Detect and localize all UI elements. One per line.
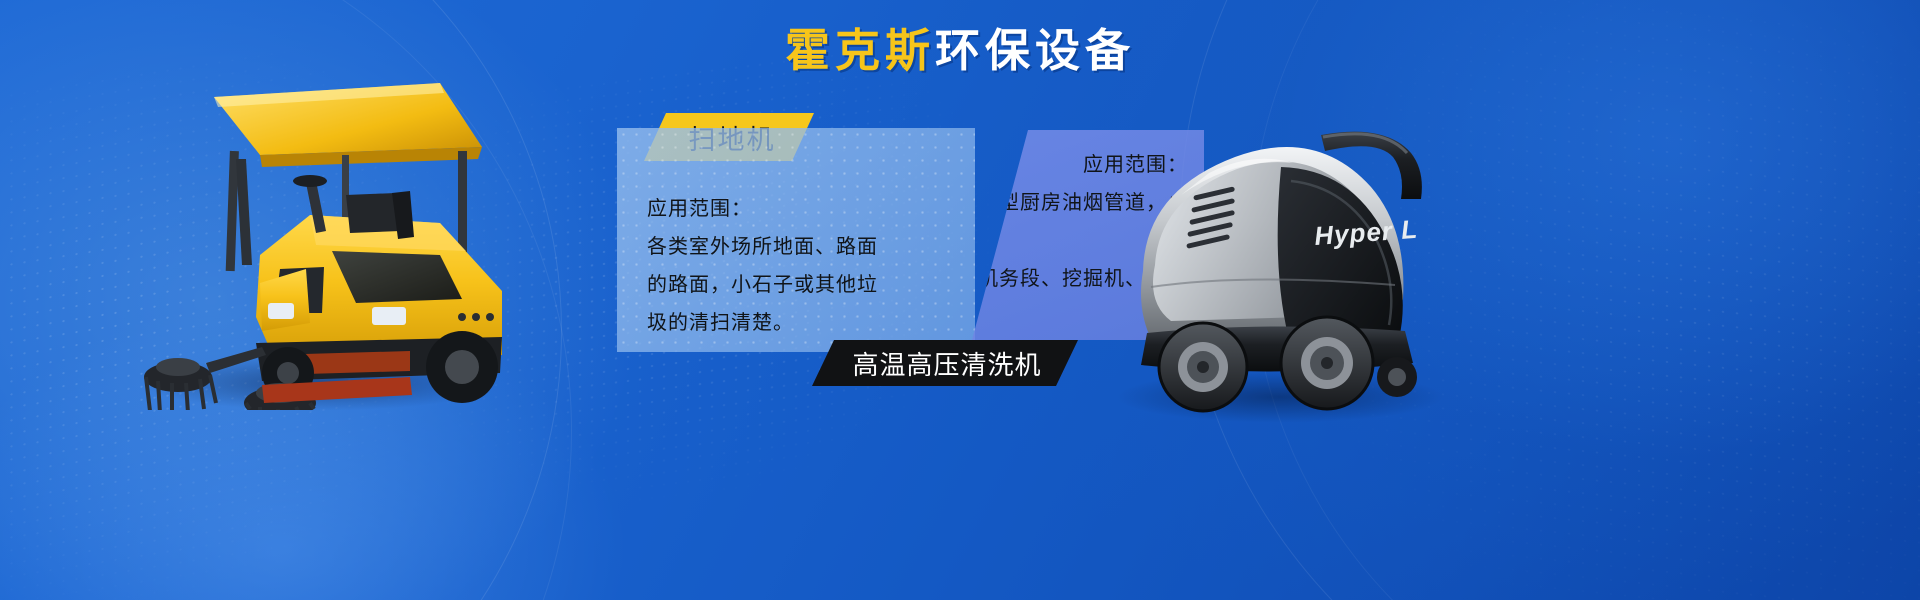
sweeper-description: 应用范围： 各类室外场所地面、路面 的路面，小石子或其他垃 圾的清扫清楚。 (647, 190, 947, 342)
washer-illustration: Hyper L (1085, 95, 1465, 425)
hot-water-pressure-washer-photo: Hyper L (1085, 95, 1465, 425)
product-tag-washer-label: 高温高压清洗机 (848, 345, 1041, 382)
banner-title-brand: 霍克斯 (785, 25, 935, 76)
svg-text:Hyper L: Hyper L (1313, 214, 1419, 251)
banner-title-suffix: 环保设备 (935, 25, 1135, 76)
product-panel-sweeper: 应用范围： 各类室外场所地面、路面 的路面，小石子或其他垃 圾的清扫清楚。 (617, 128, 975, 352)
product-tag-washer[interactable]: 高温高压清洗机 (812, 340, 1078, 386)
promo-banner: 霍克斯环保设备 (0, 0, 1920, 600)
ride-on-sweeper-photo (110, 55, 530, 410)
sweeper-description-line: 圾的清扫清楚。 (647, 304, 947, 342)
sweeper-description-line: 的路面，小石子或其他垃 (647, 266, 947, 304)
sweeper-illustration (110, 55, 530, 410)
sweeper-description-heading: 应用范围： (647, 190, 947, 228)
sweeper-description-line: 各类室外场所地面、路面 (647, 228, 947, 266)
